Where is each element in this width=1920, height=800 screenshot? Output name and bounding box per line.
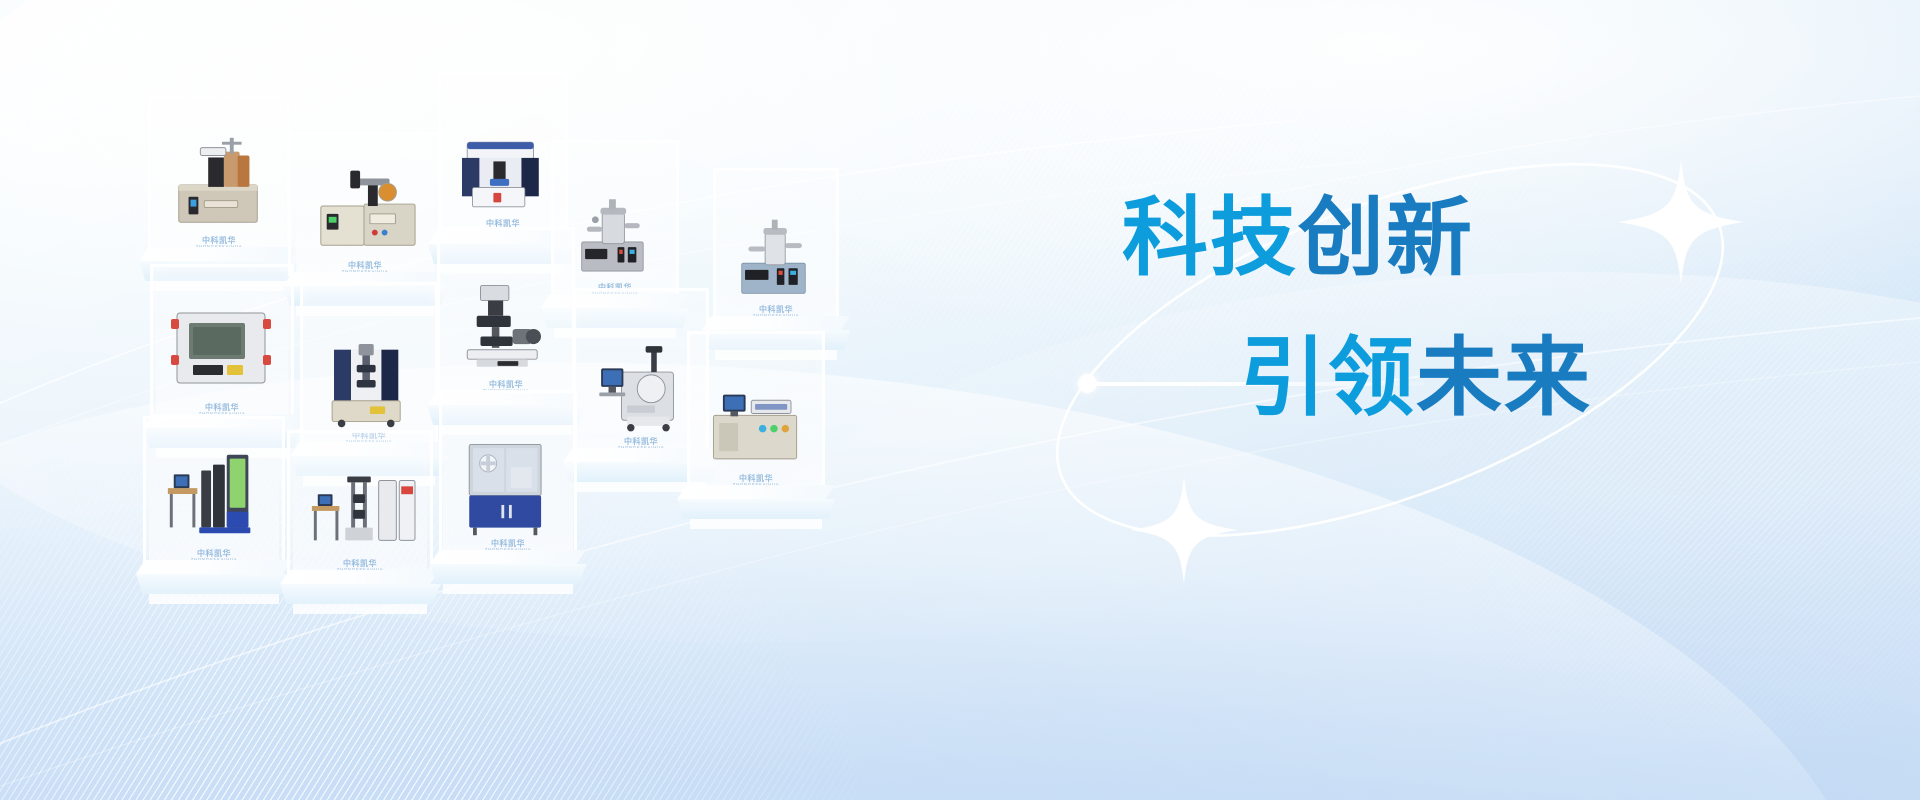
product-photo bbox=[167, 285, 277, 403]
product-photo bbox=[730, 189, 822, 305]
pedestal-face bbox=[677, 499, 835, 519]
product-image-wrap: 中科凯华 ZHONGKEKAIHUA bbox=[305, 153, 425, 273]
product-image-wrap: 中科凯华 ZHONGKEKAIHUA bbox=[455, 93, 551, 231]
product-image-wrap: 中科凯华 ZHONGKEKAIHUA bbox=[167, 285, 277, 415]
product-photo bbox=[454, 248, 558, 380]
pedestal-top bbox=[139, 247, 299, 261]
pedestal-top bbox=[280, 570, 440, 584]
product-card[interactable]: 中科凯华 ZHONGKEKAIHUA bbox=[148, 95, 290, 251]
product-image-wrap: 中科凯华 ZHONGKEKAIHUA bbox=[704, 352, 808, 486]
product-frame: 中科凯华 ZHONGKEKAIHUA bbox=[439, 390, 577, 554]
product-photo bbox=[317, 303, 421, 431]
orbit-ellipse bbox=[1020, 150, 1760, 550]
product-image-wrap: 中科凯华 ZHONGKEKAIHUA bbox=[454, 248, 558, 392]
headline-line1-soft: 创新 bbox=[1298, 190, 1474, 286]
headline-line2-soft: 未来 bbox=[1416, 330, 1592, 426]
product-card[interactable]: 中科凯华 ZHONGKEKAIHUA bbox=[687, 331, 825, 489]
product-card[interactable]: 中科凯华 ZHONGKEKAIHUA bbox=[437, 227, 575, 395]
product-photo bbox=[305, 153, 425, 261]
pedestal-face bbox=[280, 584, 440, 604]
product-photo bbox=[455, 93, 551, 219]
product-photo bbox=[456, 411, 560, 539]
product-image-wrap: 中科凯华 ZHONGKEKAIHUA bbox=[165, 116, 273, 248]
product-image-wrap: 中科凯华 ZHONGKEKAIHUA bbox=[317, 303, 421, 443]
product-pedestal bbox=[430, 550, 586, 584]
sparkle-icon bbox=[1616, 158, 1746, 286]
pedestal-top bbox=[136, 560, 292, 574]
hero-banner: 中科凯华 ZHONGKEKAIHUA 中科凯华 ZHONGKEKA bbox=[0, 0, 1920, 800]
product-frame: 中科凯华 ZHONGKEKAIHUA bbox=[713, 168, 839, 320]
pedestal-face bbox=[430, 564, 586, 584]
product-photo bbox=[704, 352, 808, 474]
product-frame: 中科凯华 ZHONGKEKAIHUA bbox=[437, 227, 575, 395]
product-frame: 中科凯华 ZHONGKEKAIHUA bbox=[300, 282, 438, 446]
headline-line1-strong: 科技 bbox=[1122, 190, 1298, 286]
product-image-wrap: 中科凯华 ZHONGKEKAIHUA bbox=[730, 189, 822, 317]
product-pedestal bbox=[280, 570, 440, 604]
product-card[interactable]: 中科凯华 ZHONGKEKAIHUA bbox=[288, 132, 442, 276]
connector-line bbox=[1095, 382, 1425, 386]
product-pedestal bbox=[136, 560, 292, 594]
product-card[interactable]: 中科凯华 ZHONGKEKAIHUA bbox=[438, 72, 568, 234]
product-card[interactable]: 中科凯华 ZHONGKEKAIHUA bbox=[300, 282, 438, 446]
product-card[interactable]: 中科凯华 ZHONGKEKAIHUA bbox=[150, 264, 294, 418]
background-hatch-bottom-right bbox=[1280, 120, 1920, 800]
headline-line-1: 科技创新 bbox=[1122, 195, 1474, 281]
product-frame: 中科凯华 ZHONGKEKAIHUA bbox=[438, 72, 568, 234]
product-frame: 中科凯华 ZHONGKEKAIHUA bbox=[288, 132, 442, 276]
product-frame: 中科凯华 ZHONGKEKAIHUA bbox=[287, 430, 433, 574]
product-photo bbox=[568, 161, 662, 283]
product-card[interactable]: 中科凯华 ZHONGKEKAIHUA bbox=[143, 416, 285, 564]
background-wave-3 bbox=[691, 272, 1920, 800]
product-image-wrap: 中科凯华 ZHONGKEKAIHUA bbox=[568, 161, 662, 295]
headline-line-2: 引领未来 bbox=[1240, 335, 1592, 421]
sparkle-icon bbox=[1128, 474, 1240, 586]
product-card[interactable]: 中科凯华 ZHONGKEKAIHUA bbox=[439, 390, 577, 554]
product-frame: 中科凯华 ZHONGKEKAIHUA bbox=[143, 416, 285, 564]
pedestal-top bbox=[430, 550, 586, 564]
product-image-wrap: 中科凯华 ZHONGKEKAIHUA bbox=[456, 411, 560, 551]
product-frame: 中科凯华 ZHONGKEKAIHUA bbox=[150, 264, 294, 418]
product-image-wrap: 中科凯华 ZHONGKEKAIHUA bbox=[304, 451, 416, 571]
product-photo bbox=[304, 451, 416, 559]
product-pedestal bbox=[677, 485, 835, 519]
product-image-wrap: 中科凯华 ZHONGKEKAIHUA bbox=[160, 437, 268, 561]
connector-dot bbox=[1078, 374, 1097, 393]
product-photo bbox=[160, 437, 268, 549]
headline-line2-strong: 引领 bbox=[1240, 330, 1416, 426]
product-card[interactable]: 中科凯华 ZHONGKEKAIHUA bbox=[713, 168, 839, 320]
pedestal-face bbox=[136, 574, 292, 594]
product-photo bbox=[165, 116, 273, 236]
pedestal-top bbox=[677, 485, 835, 499]
product-card[interactable]: 中科凯华 ZHONGKEKAIHUA bbox=[287, 430, 433, 574]
product-frame: 中科凯华 ZHONGKEKAIHUA bbox=[687, 331, 825, 489]
product-image-wrap: 中科凯华 ZHONGKEKAIHUA bbox=[590, 309, 692, 449]
product-photo bbox=[590, 309, 692, 437]
dot-line-connector bbox=[1078, 374, 1425, 393]
product-frame: 中科凯华 ZHONGKEKAIHUA bbox=[148, 95, 290, 251]
